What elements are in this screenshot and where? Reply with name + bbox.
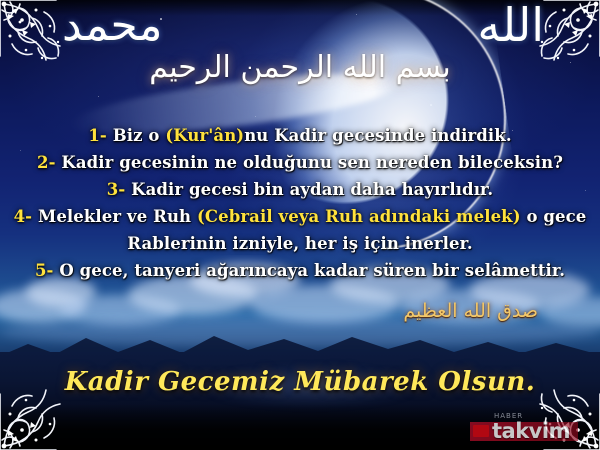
- verse-text: o gece: [521, 207, 587, 226]
- verse-highlight: (Kur'ân): [165, 126, 244, 145]
- verse-text: Kadir gecesinin ne olduğunu sen nereden …: [56, 153, 563, 172]
- verse-text: Biz o: [107, 126, 166, 145]
- verse-number: 3-: [107, 180, 126, 199]
- allah-calligraphy: الله: [477, 2, 544, 48]
- verse-highlight: (Cebrail veya Ruh adındaki melek): [197, 207, 521, 226]
- sadakallah-calligraphy: صدق الله العظيم: [403, 300, 538, 322]
- turkish-flag-icon: [473, 425, 489, 437]
- verse-line: 3- Kadir gecesi bin aydan daha hayırlıdı…: [0, 176, 600, 203]
- verse-number: 5-: [35, 261, 54, 280]
- verse-number: 4-: [14, 207, 33, 226]
- muhammad-calligraphy: محمد: [62, 4, 163, 48]
- verse-number: 2-: [37, 153, 56, 172]
- greeting-card: محمد الله بسم الله الرحمن الرحيم صدق الل…: [0, 0, 600, 450]
- verse-text: O gece, tanyeri ağarıncaya kadar süren b…: [53, 261, 565, 280]
- verse-text: Rablerinin izniyle, her iş için inerler.: [127, 234, 473, 253]
- verse-line: 4- Melekler ve Ruh (Cebrail veya Ruh adı…: [0, 203, 600, 230]
- verse-text: nu Kadir gecesinde indirdik.: [244, 126, 511, 145]
- verse-text: Kadir gecesi bin aydan daha hayırlıdır.: [125, 180, 493, 199]
- verse-line: 5- O gece, tanyeri ağarıncaya kadar süre…: [0, 257, 600, 284]
- verse-text: Melekler ve Ruh: [32, 207, 197, 226]
- watermark-brand: takvim: [492, 420, 570, 443]
- surah-al-qadr-verses: 1- Biz o (Kur'ân)nu Kadir gecesinde indi…: [0, 122, 600, 284]
- verse-number: 1-: [88, 126, 107, 145]
- verse-line: 1- Biz o (Kur'ân)nu Kadir gecesinde indi…: [0, 122, 600, 149]
- basmala-calligraphy: بسم الله الرحمن الرحيم: [0, 50, 600, 85]
- greeting-text: Kadir Gecemiz Mübarek Olsun.: [0, 367, 600, 397]
- verse-line: 2- Kadir gecesinin ne olduğunu sen nered…: [0, 149, 600, 176]
- verse-line: Rablerinin izniyle, her iş için inerler.: [0, 230, 600, 257]
- watermark[interactable]: HABER takvim: [470, 414, 582, 444]
